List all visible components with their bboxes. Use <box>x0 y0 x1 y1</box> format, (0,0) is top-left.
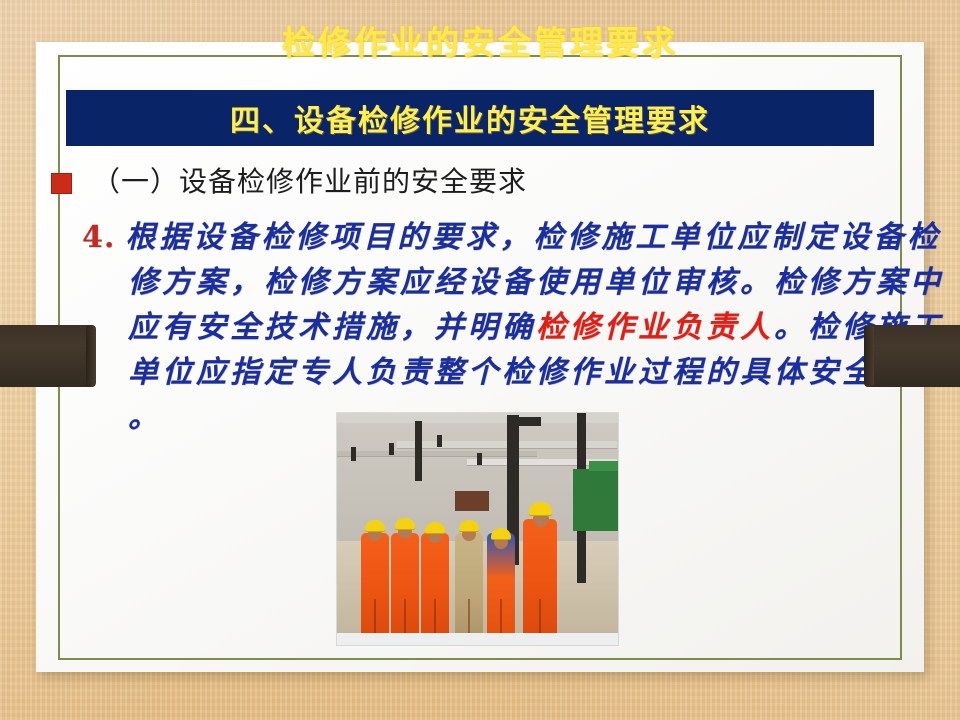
photo-fitting <box>351 447 356 461</box>
photo-fitting <box>437 435 442 447</box>
body-line: 修方案，检修方案应经设备使用单位审核。检修方案中 <box>82 260 910 305</box>
body-text-segment: 单位应指定专人负责整个检修作业过程的具体安全工作 <box>128 355 944 390</box>
left-ribbon-band <box>0 325 92 387</box>
photo-green-machine <box>573 469 618 531</box>
sub-heading-text: （一）设备检修作业前的安全要求 <box>92 160 527 200</box>
photo-column <box>415 421 422 481</box>
photo-green-machine-top <box>589 461 618 471</box>
body-text-segment: 根据设备检修项目的要求，检修施工单位应制定设备检 <box>125 220 941 255</box>
heading-banner: 四、设备检修作业的安全管理要求 <box>66 90 874 146</box>
body-text-segment: 应有安全技术措施，并明确 <box>128 310 536 345</box>
body-line: 单位应指定专人负责整个检修作业过程的具体安全工作 <box>82 350 910 395</box>
body-text-segment: 。 <box>128 400 162 435</box>
photo-crate <box>455 491 489 511</box>
photo-bottom-strip <box>337 633 618 645</box>
photo-fitting <box>389 443 394 455</box>
highlighted-phrase: 检修作业负责人 <box>536 310 774 345</box>
body-text-segment: 修方案，检修方案应经设备使用单位审核。检修方案中 <box>128 265 944 300</box>
body-line: 4.根据设备检修项目的要求，检修施工单位应制定设备检 <box>82 215 910 260</box>
red-square-bullet <box>51 173 72 194</box>
body-line: 应有安全技术措施，并明确检修作业负责人。检修施工 <box>82 305 910 350</box>
industrial-workers-photo <box>337 413 618 645</box>
right-ribbon-band <box>868 325 960 387</box>
photo-fitting <box>477 453 482 465</box>
photo-beam <box>513 417 541 426</box>
right-ribbon-cap <box>864 325 874 387</box>
list-number: 4. <box>82 220 115 255</box>
left-ribbon-cap <box>86 325 96 387</box>
heading-banner-text: 四、设备检修作业的安全管理要求 <box>230 96 710 140</box>
body-text-block: 4.根据设备检修项目的要求，检修施工单位应制定设备检修方案，检修方案应经设备使用… <box>82 215 910 440</box>
